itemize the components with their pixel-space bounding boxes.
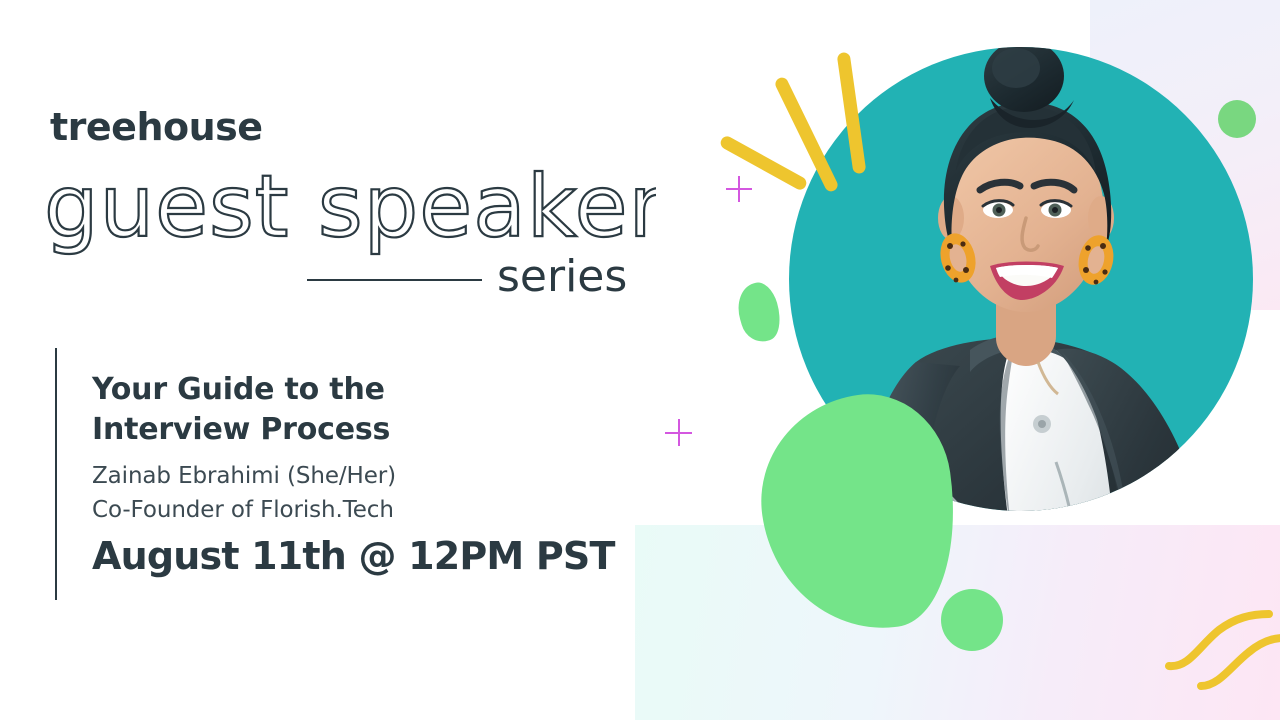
left-accent-rule	[55, 348, 57, 600]
plus-mark-lower-icon	[665, 419, 692, 446]
yellow-squiggles-icon	[1165, 580, 1280, 700]
talk-title-line-1: Your Guide to the	[92, 370, 612, 410]
brand-name: treehouse	[50, 108, 263, 146]
headline-outline-text: guest speaker	[44, 160, 656, 257]
green-dot-mid-icon	[941, 589, 1003, 651]
plus-mark-upper-icon	[726, 176, 752, 202]
headline-guest-speaker: guest speaker	[36, 160, 656, 260]
event-datetime: August 11th @ 12PM PST	[92, 535, 615, 579]
green-blob-small-icon	[732, 279, 787, 347]
series-rule	[307, 279, 482, 281]
series-word: series	[497, 255, 627, 299]
speaker-name: Zainab Ebrahimi (She/Her)	[92, 462, 396, 491]
talk-title: Your Guide to the Interview Process	[92, 370, 612, 449]
talk-title-line-2: Interview Process	[92, 410, 612, 450]
promo-slide: treehouse guest speaker series Your Guid…	[0, 0, 1280, 720]
speaker-role: Co-Founder of Florish.Tech	[92, 496, 394, 525]
